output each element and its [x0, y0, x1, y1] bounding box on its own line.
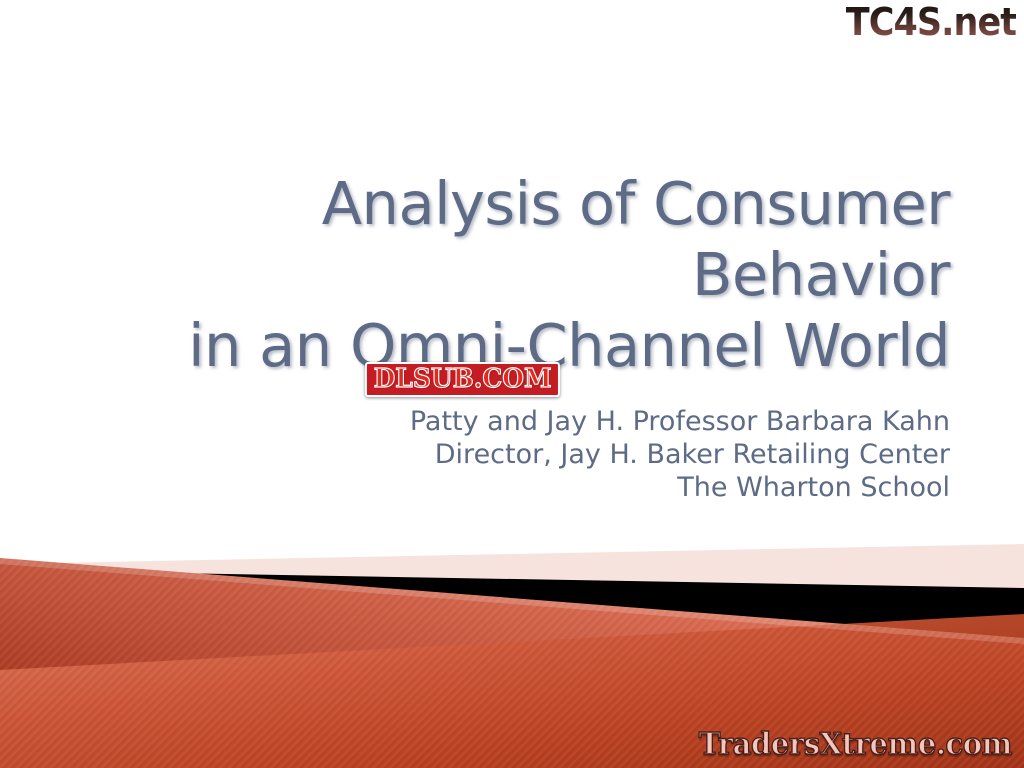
presentation-slide: TC4S.net Analysis of Consumer Behavior i…	[0, 0, 1024, 768]
subtitle-line-3: The Wharton School	[60, 471, 950, 504]
title-line-2: Behavior	[60, 239, 950, 310]
dlsub-watermark: DLSUB.COM	[365, 362, 560, 397]
title-line-1: Analysis of Consumer	[60, 168, 950, 239]
tradersxtreme-watermark: TradersXtreme.com	[699, 728, 1012, 762]
subtitle-line-2: Director, Jay H. Baker Retailing Center	[60, 438, 950, 471]
subtitle-line-1: Patty and Jay H. Professor Barbara Kahn	[60, 405, 950, 438]
tc4s-watermark: TC4S.net	[846, 2, 1016, 42]
page-title: Analysis of Consumer Behavior in an Omni…	[60, 168, 950, 381]
subtitle-author-block: Patty and Jay H. Professor Barbara Kahn …	[60, 405, 950, 504]
